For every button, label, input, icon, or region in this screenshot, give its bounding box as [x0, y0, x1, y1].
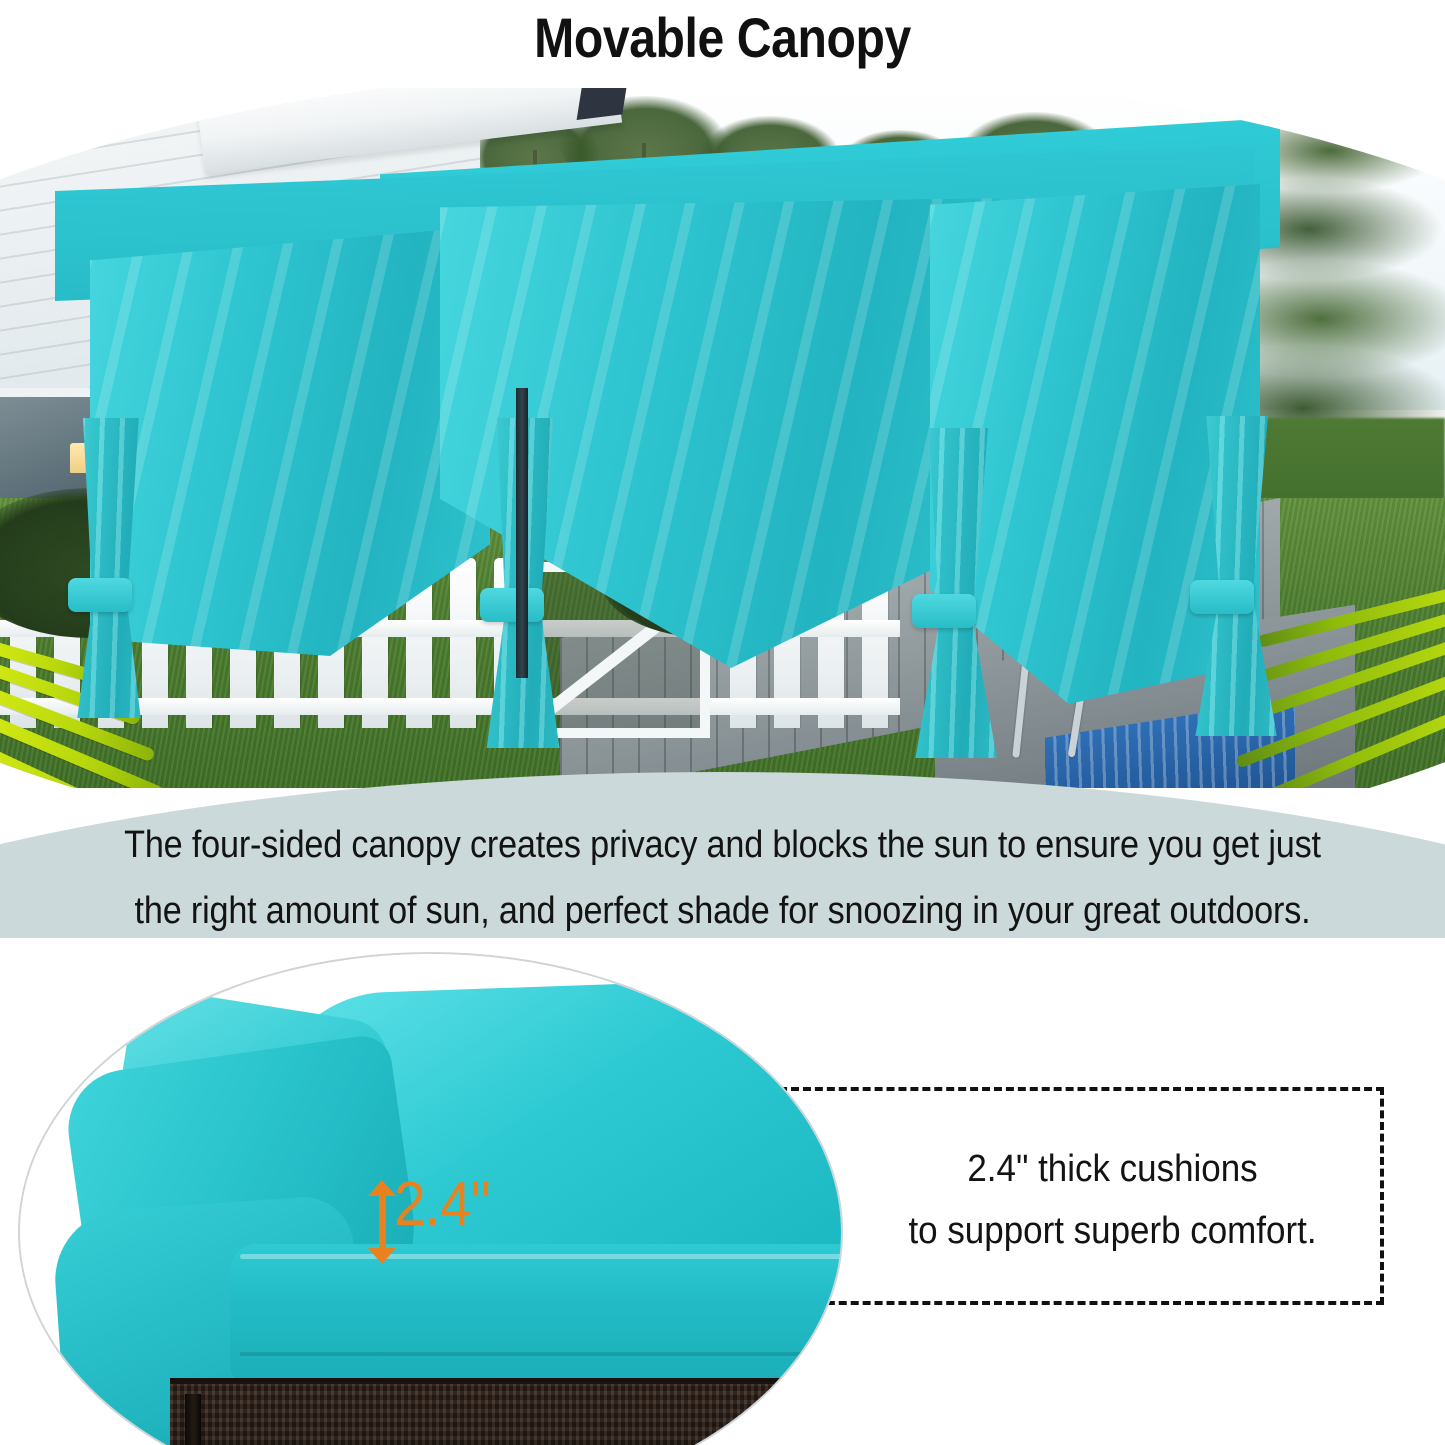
hero-canopy-photo [0, 88, 1445, 788]
curtain-tieback [1190, 580, 1254, 614]
product-feature-page: Movable Canopy [0, 0, 1445, 1445]
cushion-seam [240, 1352, 843, 1356]
canopy-panel-left [90, 226, 490, 656]
hero-scene [0, 88, 1445, 788]
cushion-seam [240, 1254, 843, 1259]
cushion-slab [230, 1244, 843, 1384]
canopy-structure [0, 88, 1445, 788]
callout-line-2: to support superb comfort. [862, 1200, 1363, 1262]
caption-block: The four-sided canopy creates privacy an… [72, 812, 1373, 944]
furniture-leg [185, 1394, 201, 1445]
callout-line-1: 2.4" thick cushions [862, 1138, 1363, 1200]
page-title: Movable Canopy [101, 6, 1344, 70]
caption-line-1: The four-sided canopy creates privacy an… [72, 812, 1373, 878]
wicker-base [170, 1384, 843, 1445]
curtain-tieback [68, 578, 132, 612]
canopy-panel-shading [90, 226, 490, 656]
canopy-post [516, 388, 528, 678]
detail-scene [20, 954, 841, 1445]
curtain-tieback [912, 594, 976, 628]
caption-line-2: the right amount of sun, and perfect sha… [72, 878, 1373, 944]
curtain-tieback [480, 588, 544, 622]
cushion-detail-photo [18, 952, 843, 1445]
callout-text-block: 2.4" thick cushions to support superb co… [862, 1138, 1363, 1262]
